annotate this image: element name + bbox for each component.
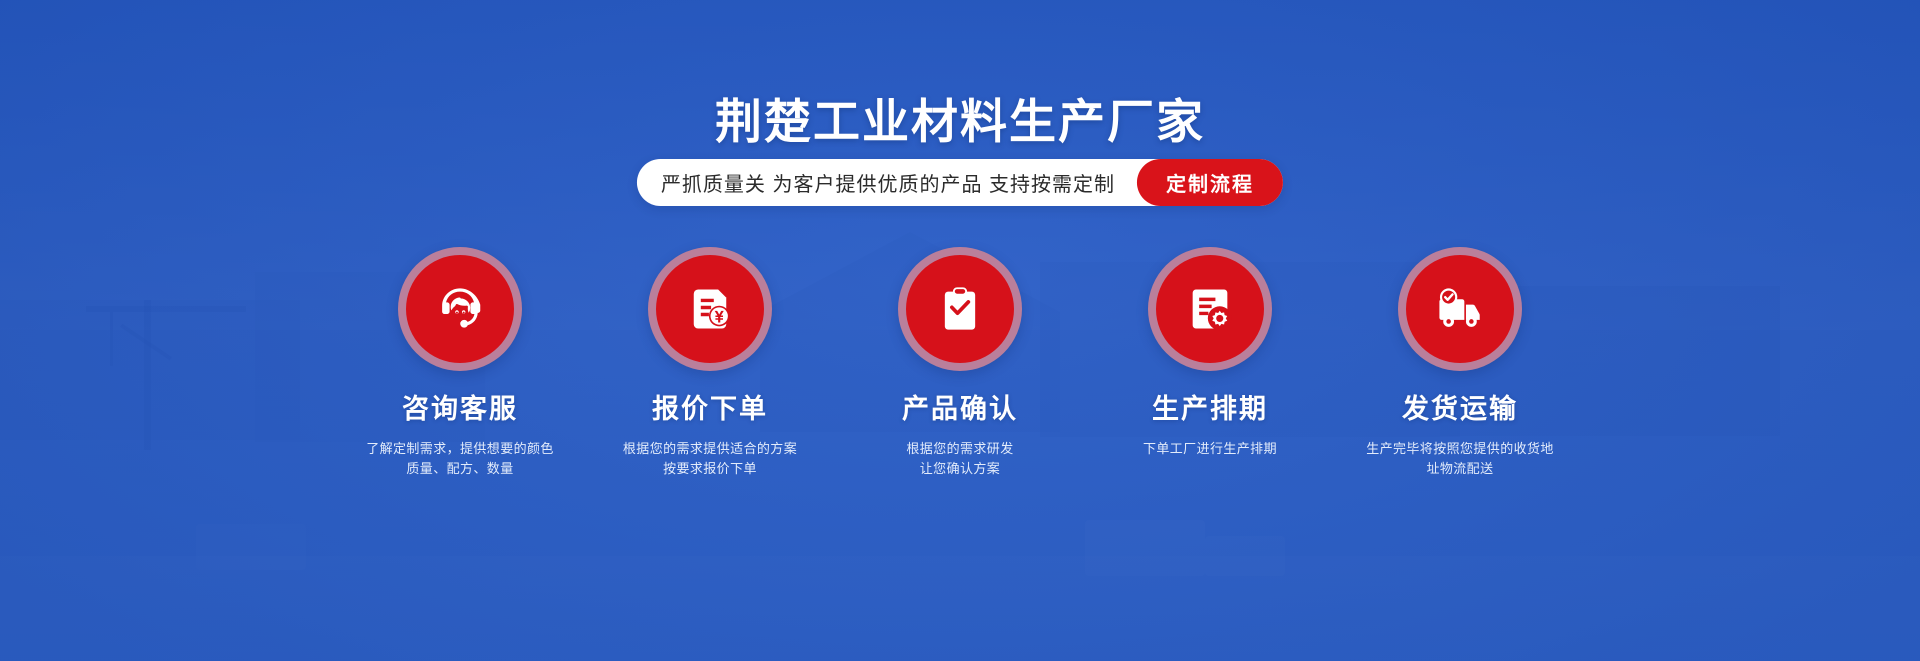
step-description-line1: 根据您的需求提供适合的方案 (623, 439, 797, 459)
step-label: 咨询客服 (402, 394, 518, 425)
step-description-line1: 了解定制需求，提供想要的颜色 (366, 439, 554, 459)
step-icon-circle (1148, 247, 1272, 371)
step-item-schedule[interactable]: 生产排期 下单工厂进行生产排期 (1090, 247, 1330, 479)
step-description: 下单工厂进行生产排期 (1143, 439, 1277, 459)
clipboard-check-icon (934, 283, 986, 335)
step-item-consult[interactable]: 咨询客服 了解定制需求，提供想要的颜色 质量、配方、数量 (340, 247, 580, 479)
page-title: 荆楚工业材料生产厂家 (0, 96, 1920, 148)
document-gear-icon (1184, 283, 1236, 335)
step-icon-circle (1398, 247, 1522, 371)
step-item-delivery[interactable]: 发货运输 生产完毕将按照您提供的收货地 址物流配送 (1340, 247, 1580, 479)
step-item-confirm[interactable]: 产品确认 根据您的需求研发 让您确认方案 (840, 247, 1080, 479)
custom-process-button[interactable]: 定制流程 (1137, 159, 1283, 206)
headset-support-icon (434, 283, 486, 335)
subtitle-text: 严抓质量关 为客户提供优质的产品 支持按需定制 (661, 168, 1137, 197)
promo-banner: 荆楚工业材料生产厂家 严抓质量关 为客户提供优质的产品 支持按需定制 定制流程 … (0, 0, 1920, 661)
subtitle-bar: 严抓质量关 为客户提供优质的产品 支持按需定制 定制流程 (637, 159, 1283, 206)
step-description-line2: 按要求报价下单 (623, 459, 797, 479)
step-description-line2: 址物流配送 (1366, 459, 1554, 479)
step-label: 生产排期 (1152, 394, 1268, 425)
step-label: 报价下单 (652, 394, 768, 425)
step-description-line2: 让您确认方案 (906, 459, 1013, 479)
quote-invoice-yen-icon (684, 283, 736, 335)
step-description: 根据您的需求研发 让您确认方案 (906, 439, 1013, 479)
step-description: 根据您的需求提供适合的方案 按要求报价下单 (623, 439, 797, 479)
step-icon-circle (648, 247, 772, 371)
step-icon-circle (898, 247, 1022, 371)
process-steps: 咨询客服 了解定制需求，提供想要的颜色 质量、配方、数量 报价下单 (340, 247, 1580, 479)
step-description: 生产完毕将按照您提供的收货地 址物流配送 (1366, 439, 1554, 479)
delivery-truck-check-icon (1434, 283, 1486, 335)
step-description-line1: 生产完毕将按照您提供的收货地 (1366, 439, 1554, 459)
step-description: 了解定制需求，提供想要的颜色 质量、配方、数量 (366, 439, 554, 479)
banner-content: 荆楚工业材料生产厂家 严抓质量关 为客户提供优质的产品 支持按需定制 定制流程 … (0, 0, 1920, 661)
step-label: 产品确认 (902, 394, 1018, 425)
step-description-line1: 根据您的需求研发 (906, 439, 1013, 459)
step-icon-circle (398, 247, 522, 371)
step-item-quote[interactable]: 报价下单 根据您的需求提供适合的方案 按要求报价下单 (590, 247, 830, 479)
step-description-line2: 质量、配方、数量 (366, 459, 554, 479)
step-description-line1: 下单工厂进行生产排期 (1143, 439, 1277, 459)
step-label: 发货运输 (1402, 394, 1518, 425)
